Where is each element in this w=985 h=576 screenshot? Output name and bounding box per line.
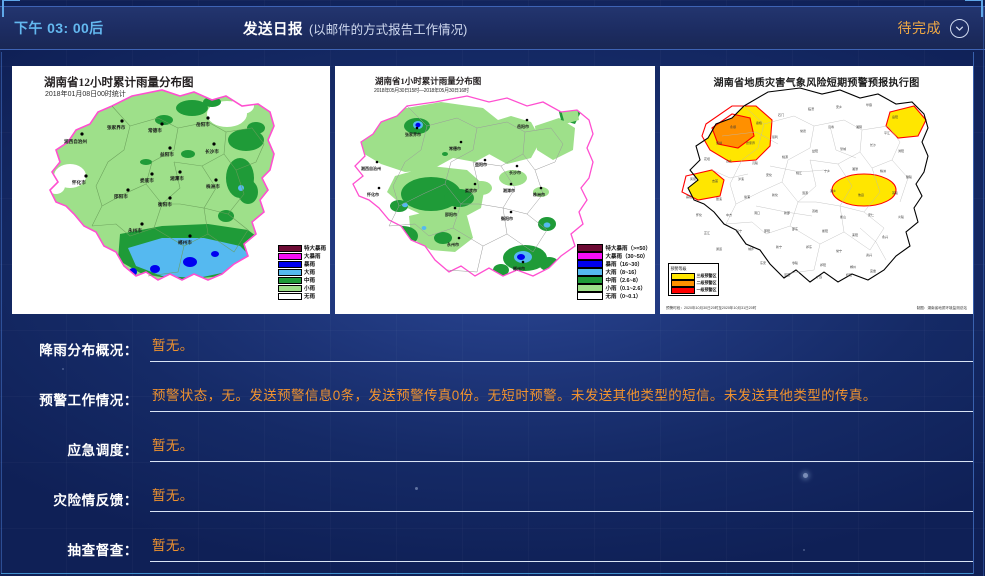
field-disaster-feedback: 灾险情反馈： 暂无。 [0, 478, 985, 528]
svg-text:常德: 常德 [800, 128, 806, 133]
svg-text:邵阳: 邵阳 [764, 228, 770, 233]
svg-text:桑植: 桑植 [756, 120, 762, 125]
field-underline [150, 411, 973, 412]
svg-text:邵阳市: 邵阳市 [113, 193, 128, 200]
svg-text:芷江: 芷江 [704, 230, 710, 235]
svg-text:岳阳市: 岳阳市 [196, 121, 210, 128]
legend-item: 一级预警区 [671, 287, 717, 294]
legend-swatch [278, 293, 302, 300]
legend-item: 中雨 [278, 276, 326, 284]
svg-text:茶陵: 茶陵 [892, 190, 898, 195]
legend-swatch [278, 261, 302, 268]
svg-text:株洲市: 株洲市 [206, 183, 220, 190]
field-emergency-dispatch: 应急调度： 暂无。 [0, 428, 985, 478]
svg-text:湘乡: 湘乡 [830, 188, 836, 193]
svg-text:衡阳: 衡阳 [822, 228, 828, 233]
svg-text:永州市: 永州市 [127, 227, 142, 234]
svg-text:汉寿: 汉寿 [828, 124, 834, 129]
svg-text:衡阳市: 衡阳市 [158, 201, 172, 208]
map-footer-left: 预警时段：2020年10月30日20时至2020年10月31日20时 [666, 306, 756, 311]
svg-text:零陵: 零陵 [792, 260, 798, 265]
field-underline [150, 511, 973, 512]
svg-text:邵阳市: 邵阳市 [444, 211, 457, 217]
legend-swatch [577, 292, 603, 300]
svg-text:石门: 石门 [778, 112, 784, 117]
svg-text:益阳: 益阳 [812, 148, 818, 153]
svg-text:常德市: 常德市 [449, 145, 461, 151]
field-body[interactable]: 暂无。 [150, 328, 973, 378]
svg-text:花垣: 花垣 [704, 156, 710, 161]
legend-swatch [577, 260, 603, 268]
field-value[interactable]: 暂无。 [150, 528, 973, 555]
legend-label: 小雨 [304, 284, 315, 292]
field-warning-work: 预警工作情况： 预警状态，无。发送预警信息0条，发送预警传真0份。无短时预警。未… [0, 378, 985, 428]
frame-left-border [1, 52, 2, 574]
svg-text:桃源: 桃源 [782, 154, 788, 159]
legend-swatch [671, 287, 695, 294]
svg-text:湘西自治州: 湘西自治州 [64, 138, 87, 145]
svg-text:衡阳市: 衡阳市 [500, 215, 513, 221]
svg-text:资兴: 资兴 [866, 252, 872, 257]
legend-label: 大暴雨（30~50） [605, 252, 648, 260]
svg-text:娄底市: 娄底市 [140, 177, 154, 184]
svg-text:湘潭: 湘潭 [852, 166, 858, 171]
legend-swatch [278, 253, 302, 260]
task-title-group: 发送日报 (以邮件的方式报告工作情况) [243, 18, 467, 39]
svg-text:古丈: 古丈 [726, 158, 732, 163]
chevron-down-circle-icon[interactable] [950, 19, 969, 38]
map-12h-rainfall[interactable]: 湖南省12小时累计雨量分布图 2018年01月08日00时统计 [12, 66, 330, 314]
field-body[interactable]: 预警状态，无。发送预警信息0条，发送预警传真0份。无短时预警。未发送其他类型的短… [150, 378, 973, 428]
task-title: 发送日报 [243, 18, 303, 39]
legend-item: 特大暴雨（>=50） [577, 244, 651, 252]
svg-text:祁东: 祁东 [806, 244, 812, 249]
legend-label: 三级预警区 [697, 273, 717, 279]
legend-label: 大雨（8~16） [605, 268, 639, 276]
svg-text:怀化市: 怀化市 [367, 191, 379, 197]
legend-label: 中雨 [304, 276, 315, 284]
legend-item: 大暴雨（30~50） [577, 252, 651, 260]
svg-text:桃江: 桃江 [796, 170, 802, 175]
map-legend: 特大暴雨 大暴雨 暴雨 大雨 中雨 小雨 无雨 [278, 244, 326, 300]
legend-item: 暴雨 [278, 260, 326, 268]
svg-text:长沙市: 长沙市 [509, 169, 521, 175]
legend-swatch [577, 276, 603, 284]
legend-item: 大暴雨 [278, 252, 326, 260]
map-1h-rainfall[interactable]: 湖南省1小时累计雨量分布图 2018年05月30日15时—2018年05月30日… [335, 66, 655, 314]
svg-text:慈利: 慈利 [772, 134, 778, 139]
svg-text:桂阳: 桂阳 [846, 272, 852, 277]
field-underline [150, 461, 973, 462]
legend-label: 中雨（2.6~8） [605, 276, 641, 284]
svg-text:怀化市: 怀化市 [72, 179, 86, 186]
field-label: 灾险情反馈： [0, 478, 138, 509]
legend-item: 小雨（0.1~2.6） [577, 284, 651, 292]
svg-text:湘西自治州: 湘西自治州 [361, 165, 381, 171]
svg-text:常德市: 常德市 [148, 127, 162, 134]
legend-item: 二级预警区 [671, 280, 717, 287]
legend-item: 大雨（8~16） [577, 268, 651, 276]
legend-swatch [671, 280, 695, 287]
svg-text:望城: 望城 [840, 146, 846, 151]
legend-label: 暴雨 [304, 260, 315, 268]
legend-label: 大暴雨 [304, 252, 321, 260]
svg-text:株洲市: 株洲市 [533, 191, 545, 197]
app-root: 下午 03: 00后 发送日报 (以邮件的方式报告工作情况) 待完成 湖南省12… [0, 0, 985, 576]
field-body[interactable]: 暂无。 [150, 478, 973, 528]
svg-text:长沙: 长沙 [870, 142, 876, 147]
svg-text:娄底市: 娄底市 [465, 187, 477, 193]
frame-bottom-border [1, 573, 973, 574]
map-footer-right: 制图：湖南省地质环境监测总站 [917, 306, 967, 311]
svg-text:双峰: 双峰 [812, 208, 818, 213]
legend-label: 二级预警区 [697, 280, 717, 286]
legend-swatch [278, 269, 302, 276]
svg-text:株洲: 株洲 [880, 168, 886, 173]
svg-text:洞口: 洞口 [754, 210, 760, 215]
legend-label: 无雨 [304, 292, 315, 300]
svg-text:凤凰: 凤凰 [690, 176, 696, 181]
svg-text:岳阳市: 岳阳市 [517, 123, 529, 129]
map-legend: 预警等级 三级预警区 二级预警区 一级预警区 [668, 263, 719, 296]
task-status-group: 待完成 [898, 18, 970, 38]
svg-text:邵东: 邵东 [792, 226, 798, 231]
field-rainfall-overview: 降雨分布概况： 暂无。 [0, 328, 985, 378]
legend-label: 无雨（0~0.1） [605, 292, 641, 300]
svg-text:炎陵: 炎陵 [898, 214, 904, 219]
legend-item: 无雨 [278, 292, 326, 300]
svg-text:湘潭市: 湘潭市 [170, 175, 184, 182]
legend-item: 特大暴雨 [278, 244, 326, 252]
report-form: 降雨分布概况： 暂无。 预警工作情况： 预警状态，无。发送预警信息0条，发送预警… [0, 320, 985, 576]
svg-text:张家界市: 张家界市 [405, 131, 421, 137]
svg-text:张家界: 张家界 [746, 140, 755, 145]
svg-text:宁远: 宁远 [816, 274, 822, 279]
svg-text:新化: 新化 [772, 192, 778, 197]
task-subtitle: (以邮件的方式报告工作情况) [309, 19, 467, 38]
svg-text:保靖: 保靖 [716, 140, 722, 145]
svg-text:耒阳: 耒阳 [852, 232, 858, 237]
field-underline [150, 361, 973, 362]
frame-right-border [973, 52, 974, 574]
svg-text:中方: 中方 [726, 212, 732, 217]
field-value[interactable]: 暂无。 [150, 478, 973, 505]
svg-text:湘潭市: 湘潭市 [503, 187, 515, 193]
map-legend: 特大暴雨（>=50） 大暴雨（30~50） 暴雨（16~30） 大雨（8~16）… [577, 244, 651, 300]
svg-text:沅陵: 沅陵 [752, 160, 758, 165]
legend-swatch [278, 245, 302, 252]
legend-item: 无雨（0~0.1） [577, 292, 651, 300]
svg-text:麻阳: 麻阳 [686, 194, 692, 199]
svg-text:攸县: 攸县 [858, 192, 864, 197]
field-value[interactable]: 预警状态，无。发送预警信息0条，发送预警传真0份。无短时预警。未发送其他类型的短… [150, 378, 973, 405]
svg-text:益阳市: 益阳市 [160, 151, 174, 158]
svg-text:郴州市: 郴州市 [513, 265, 525, 271]
svg-text:安仁: 安仁 [868, 212, 874, 217]
legend-label: 大雨 [304, 268, 315, 276]
field-value[interactable]: 暂无。 [150, 328, 973, 355]
svg-text:张家界市: 张家界市 [107, 124, 126, 131]
svg-text:道县: 道县 [784, 272, 790, 277]
svg-text:永顺: 永顺 [730, 124, 736, 129]
svg-text:郴州: 郴州 [850, 264, 856, 269]
field-body[interactable]: 暂无。 [150, 428, 973, 478]
svg-text:永兴: 永兴 [882, 234, 888, 239]
svg-text:宁乡: 宁乡 [824, 168, 830, 173]
svg-text:宜章: 宜章 [870, 268, 876, 273]
legend-item: 小雨 [278, 284, 326, 292]
field-spot-check: 抽查督查： 暂无。 [0, 528, 985, 576]
field-label: 降雨分布概况： [0, 328, 138, 359]
legend-item: 暴雨（16~30） [577, 260, 651, 268]
field-value[interactable]: 暂无。 [150, 428, 973, 455]
svg-text:吉首: 吉首 [712, 178, 718, 183]
svg-text:通道: 通道 [716, 246, 722, 251]
svg-text:常宁: 常宁 [836, 248, 842, 253]
frame-outer-right-border [983, 6, 984, 576]
legend-swatch [577, 252, 603, 260]
field-body[interactable]: 暂无。 [150, 528, 973, 576]
legend-item: 大雨 [278, 268, 326, 276]
legend-label: 一级预警区 [697, 287, 717, 293]
legend-swatch [577, 284, 603, 292]
legend-item: 中雨（2.6~8） [577, 276, 651, 284]
svg-text:泸溪: 泸溪 [738, 176, 744, 181]
svg-text:怀化: 怀化 [696, 212, 702, 217]
legend-swatch [671, 273, 695, 280]
legend-swatch [278, 277, 302, 284]
svg-text:衡山: 衡山 [840, 214, 846, 219]
task-time-label: 下午 03: 00后 [14, 18, 104, 38]
svg-text:城步: 城步 [748, 246, 754, 251]
field-label: 应急调度： [0, 428, 138, 459]
field-label: 预警工作情况： [0, 378, 138, 409]
map-panel-row: 湖南省12小时累计雨量分布图 2018年01月08日00时统计 [12, 66, 973, 314]
svg-text:临澧: 临澧 [808, 106, 814, 111]
svg-text:郴州市: 郴州市 [178, 239, 192, 246]
svg-text:醴陵: 醴陵 [906, 174, 912, 179]
svg-text:益阳市: 益阳市 [475, 161, 487, 167]
svg-text:湘阴: 湘阴 [856, 124, 862, 129]
field-underline [150, 561, 973, 562]
map-geo-risk-warning[interactable]: 湖南省地质灾害气象风险短期预警预报执行图 [660, 66, 973, 314]
svg-text:平江: 平江 [884, 130, 890, 135]
status-badge: 待完成 [898, 18, 942, 38]
field-label: 抽查督查： [0, 528, 138, 559]
svg-text:辰溪: 辰溪 [716, 196, 722, 201]
svg-text:新邵: 新邵 [784, 210, 790, 215]
svg-text:岳阳: 岳阳 [892, 114, 898, 119]
svg-text:永州市: 永州市 [446, 241, 459, 247]
svg-text:绥宁: 绥宁 [736, 228, 742, 233]
svg-text:浏阳: 浏阳 [898, 148, 904, 153]
svg-text:东安: 东安 [760, 260, 766, 265]
svg-text:溆浦: 溆浦 [744, 194, 750, 199]
legend-label: 小雨（0.1~2.6） [605, 284, 646, 292]
svg-text:祁阳: 祁阳 [820, 262, 826, 267]
svg-text:长沙市: 长沙市 [205, 148, 219, 155]
legend-swatch [577, 244, 603, 252]
svg-text:华容: 华容 [866, 102, 872, 107]
legend-item: 三级预警区 [671, 273, 717, 280]
svg-text:新宁: 新宁 [776, 244, 782, 249]
legend-label: 暴雨（16~30） [605, 260, 642, 268]
svg-text:涟源: 涟源 [802, 190, 808, 195]
svg-text:安化: 安化 [766, 172, 772, 177]
legend-swatch [577, 268, 603, 276]
legend-label: 特大暴雨 [304, 244, 326, 252]
svg-text:安乡: 安乡 [836, 104, 842, 109]
legend-title: 预警等级 [671, 266, 717, 272]
legend-label: 特大暴雨（>=50） [605, 244, 651, 252]
task-header-bar: 下午 03: 00后 发送日报 (以邮件的方式报告工作情况) 待完成 [0, 6, 985, 50]
legend-swatch [278, 285, 302, 292]
